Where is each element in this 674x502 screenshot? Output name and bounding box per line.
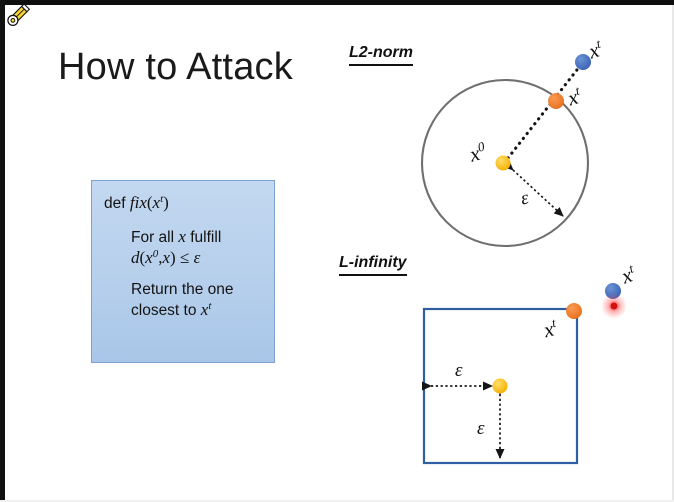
l2-norm-circle xyxy=(422,80,588,246)
linf-xt-projected-label: xt xyxy=(541,315,560,343)
linf-epsilon-vertical-label: ε xyxy=(477,418,485,440)
constraint-x0-base: x xyxy=(145,248,153,267)
constraint-epsilon: ε xyxy=(194,248,201,267)
pseudocode-forall-line: For all x fulfill xyxy=(131,227,264,248)
l2-attack-direction-line xyxy=(508,66,580,158)
l2-xt-projected-dot xyxy=(548,93,564,109)
pseudocode-box: def fix(xt) For all x fulfill d(x0,x) ≤ … xyxy=(91,180,275,363)
linf-xt-original-label: xt xyxy=(618,261,639,290)
l2-xt-projected-label: xt xyxy=(564,83,584,112)
l2-x0-label: x0 xyxy=(467,138,489,167)
return-target-sup: t xyxy=(208,300,211,312)
linf-laser-glow xyxy=(601,293,627,319)
pseudocode-return-line-2: closest to xt xyxy=(131,300,264,321)
constraint-x: x xyxy=(162,248,170,267)
linf-xt-projected-dot xyxy=(566,303,582,319)
constraint-relation: ≤ xyxy=(180,248,189,267)
forall-suffix: fulfill xyxy=(190,229,221,246)
l2-epsilon-label: ε xyxy=(519,187,531,210)
constraint-d: d xyxy=(131,248,140,267)
pseudocode-fn-name: fix xyxy=(130,193,147,212)
l2-xt-original-dot xyxy=(575,54,591,70)
pencil-cursor[interactable] xyxy=(2,1,32,31)
forall-prefix: For all xyxy=(131,229,174,246)
linf-x0-dot xyxy=(493,379,508,394)
paren-close: ) xyxy=(163,193,169,212)
linf-laser-pointer-dot xyxy=(610,302,618,310)
linf-epsilon-horizontal-label: ε xyxy=(455,360,463,382)
pseudocode-constraint-line: d(x0,x) ≤ ε xyxy=(131,248,264,269)
pseudocode-return-line-1: Return the one xyxy=(131,281,264,300)
slide-canvas: How to Attack def fix(xt) For all x fulf… xyxy=(0,0,674,502)
pseudocode-signature-line: def fix(xt) xyxy=(104,193,264,214)
l2-norm-heading: L2-norm xyxy=(349,44,413,66)
paren-close: ) xyxy=(170,248,176,267)
page-title: How to Attack xyxy=(58,46,293,89)
frame-edge-left xyxy=(0,0,5,502)
l2-xt-original-label: xt xyxy=(585,36,605,65)
l2-x0-dot xyxy=(496,156,511,171)
pseudocode-def-keyword: def xyxy=(104,195,126,212)
return-prefix: closest to xyxy=(131,302,196,319)
l-infinity-heading: L-infinity xyxy=(339,254,407,276)
frame-edge-top xyxy=(0,0,674,5)
pseudocode-arg-base: x xyxy=(153,193,161,212)
linf-xt-original-dot xyxy=(605,283,621,299)
forall-variable: x xyxy=(178,227,186,246)
